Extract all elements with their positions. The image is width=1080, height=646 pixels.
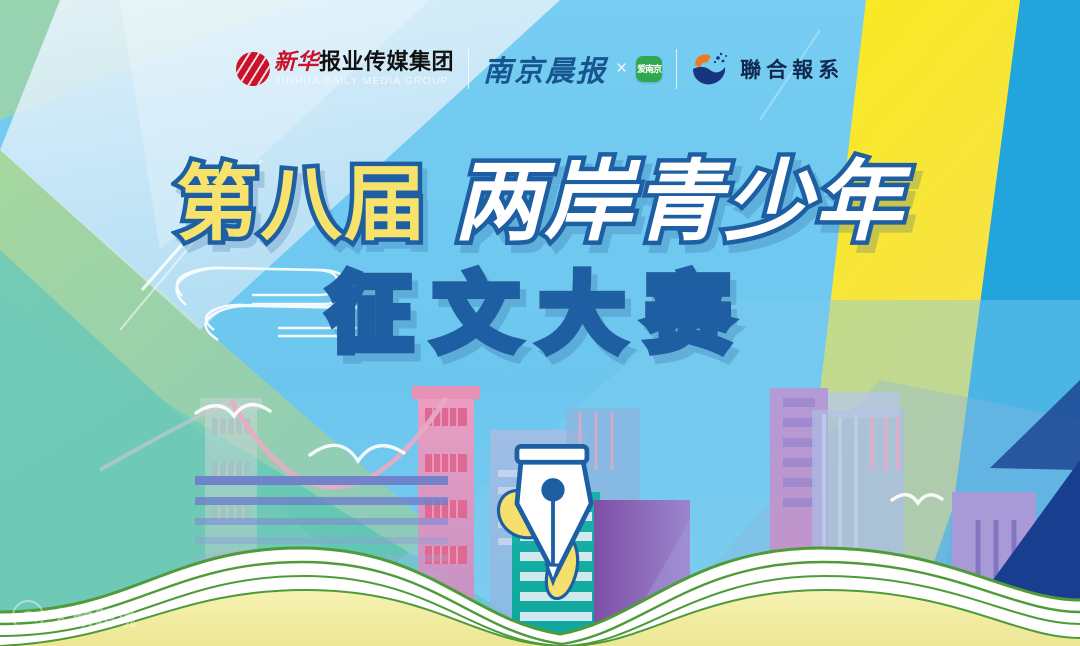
logo-xinhua-daily-media-group[interactable]: 新华报业传媒集团 XINHUA DAILY MEDIA GROUP xyxy=(236,51,454,87)
watermark-logo-icon xyxy=(12,600,44,632)
xinhua-cn-prefix: 新华 xyxy=(274,49,319,75)
ainanjing-app-icon[interactable]: 爱南京 xyxy=(636,56,662,82)
logo-nanjing-morning-post[interactable]: 南京晨报 × 爱南京 xyxy=(483,48,662,90)
logo-divider-1 xyxy=(468,49,469,89)
logo-divider-2 xyxy=(676,49,677,89)
headline-subject: 两岸青少年 xyxy=(454,158,904,246)
united-daily-emblem-icon xyxy=(691,52,731,86)
united-daily-news-text: 聯合報系 xyxy=(740,54,844,84)
cross-symbol: × xyxy=(616,58,627,80)
promo-poster: 新华报业传媒集团 XINHUA DAILY MEDIA GROUP 南京晨报 ×… xyxy=(0,0,1080,646)
partner-logo-bar: 新华报业传媒集团 XINHUA DAILY MEDIA GROUP 南京晨报 ×… xyxy=(0,38,1080,100)
logo-united-daily-news-group[interactable]: 聯合報系 xyxy=(691,52,844,86)
headline-line-1: 第八届两岸青少年 xyxy=(0,158,1080,246)
xinhua-en-text: XINHUA DAILY MEDIA GROUP xyxy=(274,76,454,87)
ainanjing-app-label: 爱南京 xyxy=(637,65,661,74)
xinhua-emblem-icon xyxy=(236,52,270,86)
xinhua-cn-text: 报业传媒集团 xyxy=(319,49,454,74)
headline-line-2: 征文大赛 xyxy=(0,272,1080,356)
watermark-text: 大数跨境 xyxy=(51,602,139,631)
watermark: 大数跨境 xyxy=(12,600,139,632)
headline-event: 征文大赛 xyxy=(328,272,752,356)
headline-edition: 第八届 xyxy=(176,164,428,246)
nanjing-morning-post-text: 南京晨报 xyxy=(483,48,607,90)
